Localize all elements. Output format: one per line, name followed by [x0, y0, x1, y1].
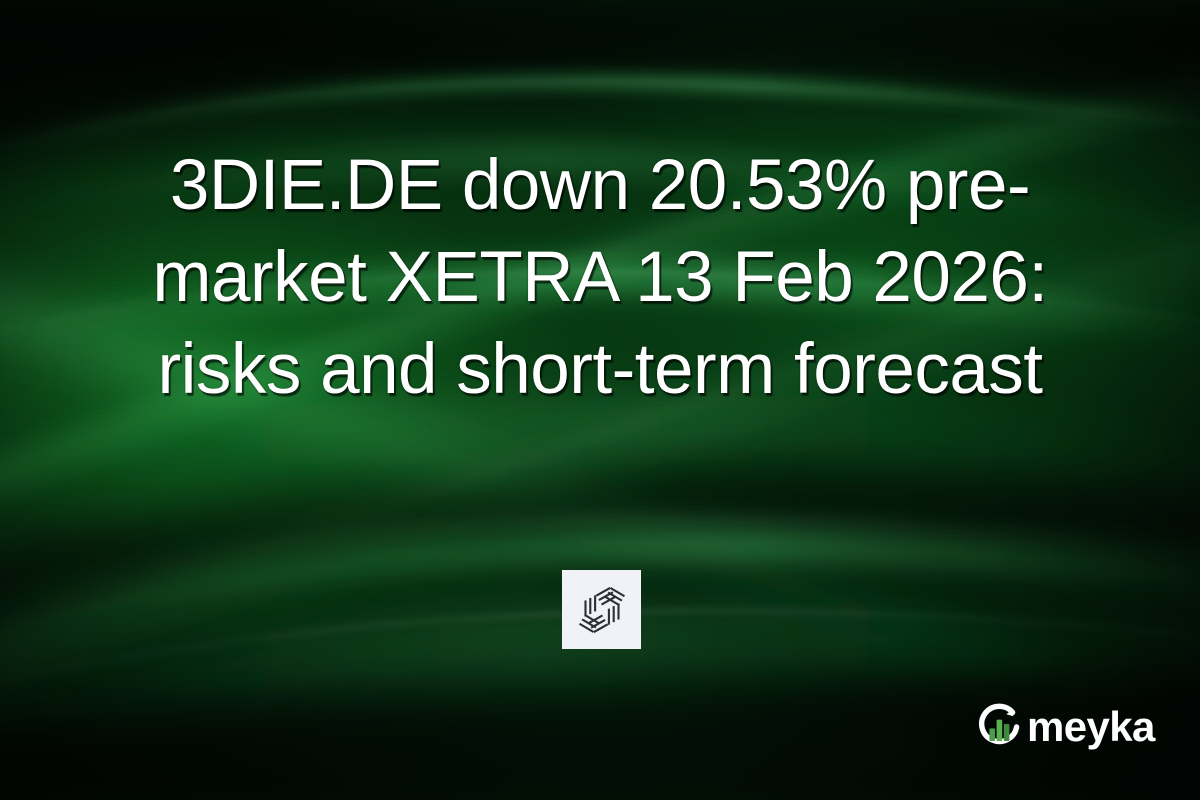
page-title: 3DIE.DE down 20.53% pre-market XETRA 13 …	[80, 140, 1120, 416]
brand-wordmark: meyka	[1027, 706, 1155, 748]
social-share-card: 3DIE.DE down 20.53% pre-market XETRA 13 …	[0, 0, 1200, 800]
meyka-ring-bars-icon	[972, 700, 1026, 754]
brand-bar-middle	[997, 720, 1003, 741]
headline-block: 3DIE.DE down 20.53% pre-market XETRA 13 …	[80, 140, 1120, 416]
brand-bar-left	[989, 728, 995, 741]
brand-lockup: meyka	[972, 698, 1155, 756]
brand-bar-right	[1004, 724, 1010, 741]
center-logo-badge	[562, 570, 641, 649]
hexagonal-spiral-icon	[576, 584, 628, 636]
